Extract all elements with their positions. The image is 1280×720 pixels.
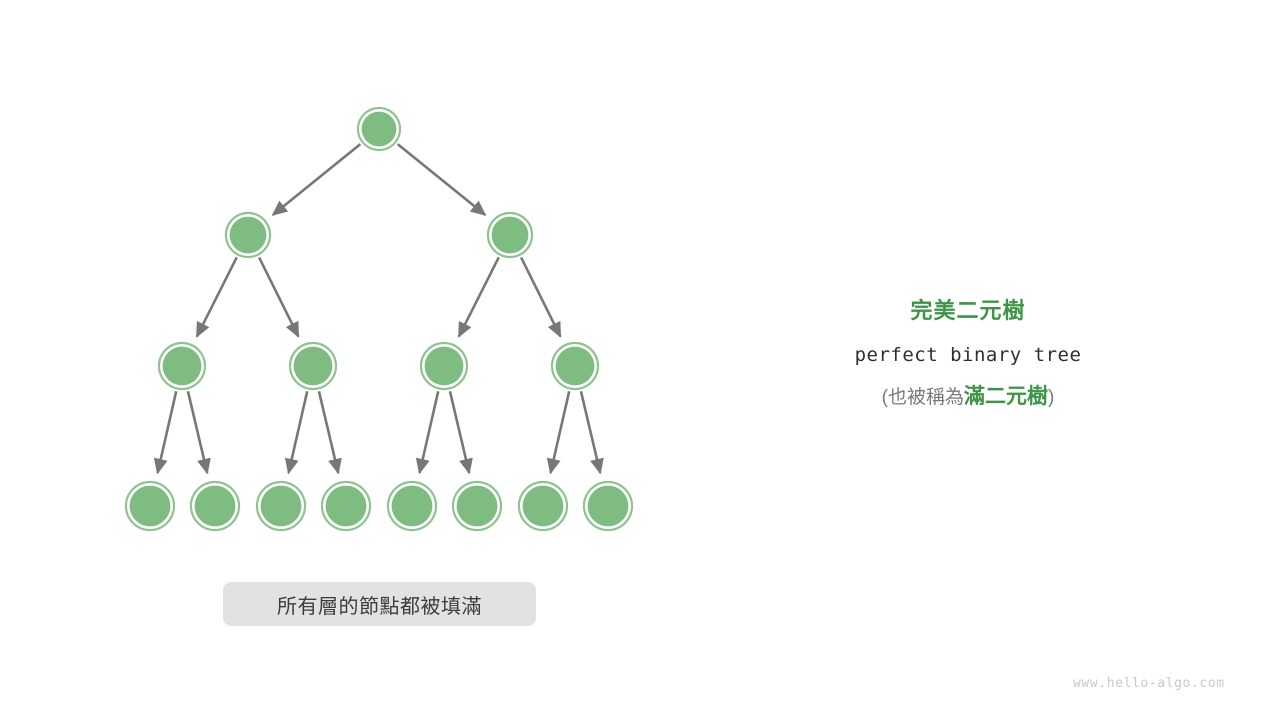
tree-edge — [450, 391, 469, 473]
tree-node — [191, 482, 239, 530]
legend-alias-prefix: (也被稱為 — [882, 387, 964, 408]
tree-node — [290, 343, 336, 389]
tree-edge — [158, 391, 177, 473]
tree-node — [453, 482, 501, 530]
tree-edge — [398, 144, 485, 215]
tree-node-fill — [130, 486, 171, 527]
tree-node-fill — [588, 486, 629, 527]
tree-edge — [459, 257, 499, 336]
legend-title: 完美二元樹 — [818, 296, 1118, 326]
tree-node-fill — [163, 347, 202, 386]
tree-node-fill — [230, 217, 267, 254]
tree-node-fill — [523, 486, 564, 527]
tree-node — [519, 482, 567, 530]
tree-node — [358, 108, 400, 150]
tree-edge — [259, 257, 298, 336]
tree-node-fill — [392, 486, 433, 527]
tree-node — [257, 482, 305, 530]
tree-node-fill — [195, 486, 236, 527]
tree-node-fill — [326, 486, 367, 527]
legend-subtitle: perfect binary tree — [818, 342, 1118, 368]
legend-alias-highlight: 滿二元樹 — [964, 385, 1048, 408]
tree-edge — [188, 391, 207, 473]
legend-block: 完美二元樹 perfect binary tree (也被稱為滿二元樹) — [818, 296, 1118, 411]
tree-node — [226, 213, 270, 257]
edge-layer — [158, 144, 601, 473]
tree-node-fill — [425, 347, 464, 386]
tree-edge — [273, 144, 360, 215]
tree-node — [488, 213, 532, 257]
tree-edge — [319, 391, 338, 473]
tree-node-fill — [261, 486, 302, 527]
tree-node — [388, 482, 436, 530]
tree-edge — [551, 391, 570, 473]
node-layer — [126, 108, 632, 530]
tree-node-fill — [294, 347, 333, 386]
caption-badge: 所有層的節點都被填滿 — [223, 582, 536, 626]
tree-node — [322, 482, 370, 530]
tree-node — [159, 343, 205, 389]
tree-node — [552, 343, 598, 389]
tree-node-fill — [492, 217, 529, 254]
legend-alias: (也被稱為滿二元樹) — [818, 384, 1118, 411]
tree-node-fill — [457, 486, 498, 527]
tree-edge — [197, 257, 237, 336]
tree-node — [126, 482, 174, 530]
tree-node — [421, 343, 467, 389]
watermark: www.hello-algo.com — [1073, 676, 1225, 691]
tree-edge — [289, 391, 308, 473]
tree-node — [584, 482, 632, 530]
legend-alias-suffix: ) — [1048, 387, 1054, 408]
caption-text: 所有層的節點都被填滿 — [277, 590, 482, 619]
tree-edge — [581, 391, 600, 473]
tree-node-fill — [556, 347, 595, 386]
tree-node-fill — [362, 112, 397, 147]
tree-edge — [420, 391, 439, 473]
tree-edge — [521, 257, 560, 336]
diagram-canvas: 所有層的節點都被填滿 完美二元樹 perfect binary tree (也被… — [0, 0, 1280, 720]
